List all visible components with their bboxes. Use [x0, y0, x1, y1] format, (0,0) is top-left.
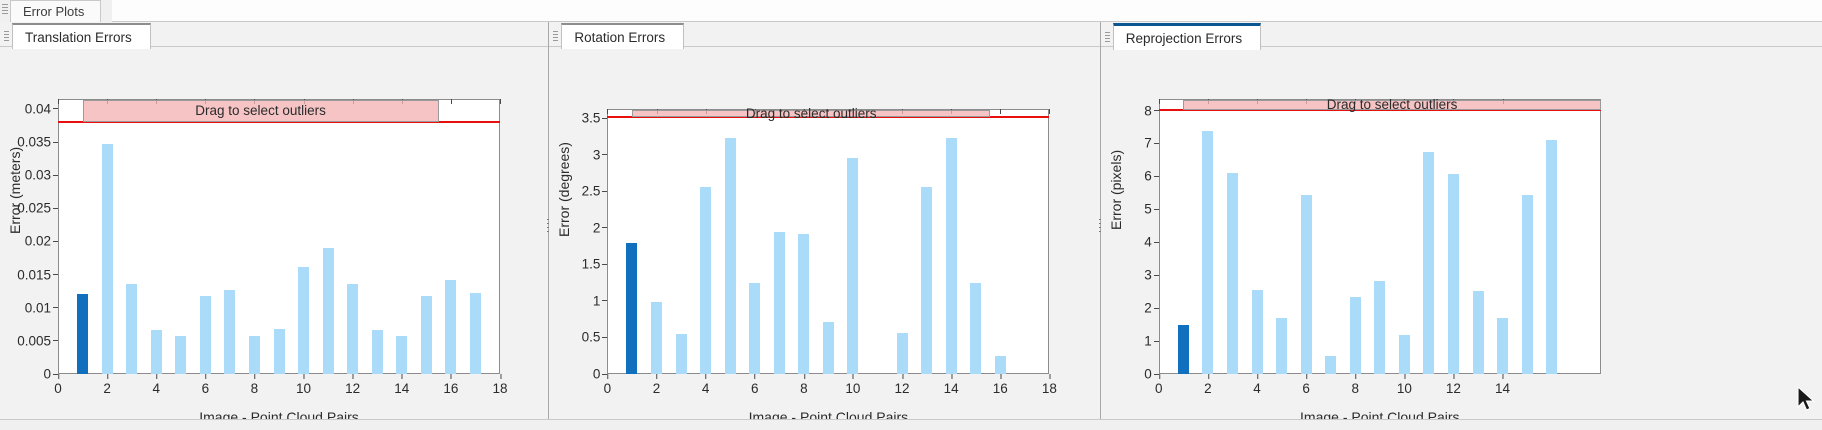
outlier-band-label: Drag to select outliers — [746, 106, 877, 121]
y-tick-label: 5 — [1144, 202, 1159, 217]
x-tick-label: 8 — [1351, 374, 1359, 396]
y-tick-label: 2.5 — [582, 184, 608, 199]
y-tick-label: 4 — [1144, 235, 1159, 250]
bar[interactable] — [847, 158, 858, 374]
x-tick-mark-top — [1159, 99, 1160, 104]
x-tick-label: 12 — [1446, 374, 1461, 396]
bar[interactable] — [749, 283, 760, 374]
y-axis-label: Error (pixels) — [1107, 65, 1125, 315]
bar[interactable] — [323, 248, 334, 374]
x-tick-mark-top — [1000, 109, 1001, 114]
bar[interactable] — [175, 336, 186, 374]
bar[interactable] — [1301, 195, 1312, 374]
bar[interactable] — [823, 322, 834, 374]
x-tick-label: 4 — [152, 374, 160, 396]
y-tick-label: 3 — [1144, 268, 1159, 283]
x-tick-label: 16 — [443, 374, 458, 396]
panel-drag-grip-icon[interactable] — [4, 31, 9, 42]
chart-translation-errors: Error (meters) 00.0050.010.0150.020.0250… — [0, 47, 548, 430]
x-tick-mark-top — [58, 99, 59, 104]
outlier-selection-band[interactable]: Drag to select outliers — [632, 110, 991, 117]
tab-label: Translation Errors — [25, 30, 132, 45]
bar[interactable] — [421, 296, 432, 374]
bar[interactable] — [897, 333, 908, 374]
x-tick-mark-top — [1049, 109, 1050, 114]
plot-area[interactable]: 01234567802468101214Drag to select outli… — [1159, 99, 1601, 374]
bar[interactable] — [626, 243, 637, 374]
panel-container: Translation Errors Error (meters) 00.005… — [0, 22, 1822, 430]
y-tick-label: 2 — [593, 220, 608, 235]
bar[interactable] — [1374, 281, 1385, 374]
x-tick-label: 12 — [345, 374, 360, 396]
x-tick-mark-top — [451, 99, 452, 104]
plot-area[interactable]: 00.0050.010.0150.020.0250.030.0350.04024… — [58, 99, 500, 374]
y-tick-label: 0.025 — [17, 201, 58, 216]
bar[interactable] — [77, 294, 88, 374]
x-tick-label: 6 — [751, 374, 759, 396]
x-tick-label: 14 — [944, 374, 959, 396]
x-tick-label: 10 — [296, 374, 311, 396]
y-tick-label: 0.04 — [25, 101, 58, 116]
bar[interactable] — [700, 187, 711, 374]
bar[interactable] — [274, 329, 285, 374]
bar[interactable] — [298, 267, 309, 374]
x-tick-label: 2 — [1204, 374, 1212, 396]
bar[interactable] — [921, 187, 932, 374]
bar[interactable] — [151, 330, 162, 374]
bar[interactable] — [1178, 325, 1189, 374]
x-tick-label: 4 — [702, 374, 710, 396]
x-tick-label: 0 — [604, 374, 612, 396]
x-tick-mark-top — [500, 99, 501, 104]
bar[interactable] — [347, 284, 358, 374]
x-tick-mark-top — [607, 109, 608, 114]
chart-rotation-errors: Error (degrees) 00.511.522.533.502468101… — [549, 47, 1099, 430]
bar[interactable] — [1423, 152, 1434, 374]
bar[interactable] — [798, 234, 809, 374]
x-tick-label: 14 — [394, 374, 409, 396]
bar[interactable] — [1448, 174, 1459, 374]
x-tick-label: 0 — [1155, 374, 1163, 396]
outer-tab-bar: Error Plots — [0, 0, 1822, 23]
tab-label: Reprojection Errors — [1126, 31, 1242, 46]
y-tick-label: 1.5 — [582, 257, 608, 272]
y-tick-label: 6 — [1144, 169, 1159, 184]
bar[interactable] — [651, 302, 662, 374]
y-tick-label: 7 — [1144, 136, 1159, 151]
y-tick-label: 3 — [593, 147, 608, 162]
panel-reprojection-errors: Reprojection Errors Error (pixels) 01234… — [1101, 22, 1822, 430]
bar[interactable] — [200, 296, 211, 374]
x-tick-label: 8 — [800, 374, 808, 396]
x-tick-label: 2 — [653, 374, 661, 396]
tab-error-plots[interactable]: Error Plots — [10, 0, 101, 22]
x-tick-label: 0 — [54, 374, 62, 396]
bar[interactable] — [396, 336, 407, 374]
bar[interactable] — [249, 336, 260, 374]
error-plots-window: Error Plots Translation Errors Error (me… — [0, 0, 1822, 430]
plot-area[interactable]: 00.511.522.533.5024681012141618Drag to s… — [607, 109, 1049, 374]
x-tick-label: 10 — [1397, 374, 1412, 396]
bar[interactable] — [126, 284, 137, 374]
panel-rotation-errors: Rotation Errors Error (degrees) 00.511.5… — [549, 22, 1099, 430]
outlier-band-label: Drag to select outliers — [1327, 97, 1458, 112]
bar[interactable] — [1350, 297, 1361, 374]
x-tick-label: 4 — [1253, 374, 1261, 396]
y-tick-label: 0.02 — [25, 234, 58, 249]
bar[interactable] — [1276, 318, 1287, 374]
bar[interactable] — [1473, 291, 1484, 374]
panel-drag-grip-icon[interactable] — [1105, 32, 1110, 43]
y-axis-label: Error (degrees) — [555, 65, 573, 315]
mouse-cursor-icon — [1796, 386, 1818, 412]
bar[interactable] — [1497, 318, 1508, 374]
outer-tab-filler — [112, 0, 1822, 22]
x-tick-label: 18 — [492, 374, 507, 396]
bar[interactable] — [725, 138, 736, 374]
y-tick-label: 0.005 — [17, 333, 58, 348]
bar[interactable] — [995, 356, 1006, 374]
tab-translation-errors[interactable]: Translation Errors — [12, 23, 151, 49]
drag-grip-icon[interactable] — [2, 4, 8, 16]
outer-tab-label: Error Plots — [23, 4, 84, 19]
bar[interactable] — [1252, 290, 1263, 374]
x-tick-label: 12 — [895, 374, 910, 396]
y-tick-label: 8 — [1144, 103, 1159, 118]
bar[interactable] — [1522, 195, 1533, 374]
bar[interactable] — [224, 290, 235, 374]
x-tick-label: 14 — [1495, 374, 1510, 396]
bar[interactable] — [774, 232, 785, 374]
bar[interactable] — [102, 144, 113, 374]
outlier-selection-band[interactable]: Drag to select outliers — [1183, 100, 1600, 110]
chart-reprojection-errors: Error (pixels) 01234567802468101214Drag … — [1101, 47, 1822, 430]
bar[interactable] — [1325, 356, 1336, 374]
bar[interactable] — [1227, 173, 1238, 374]
y-tick-label: 0.5 — [582, 330, 608, 345]
y-tick-label: 0.015 — [17, 267, 58, 282]
x-tick-label: 6 — [1302, 374, 1310, 396]
panel-2-tab-bar: Rotation Errors — [549, 22, 1099, 47]
x-tick-label: 16 — [993, 374, 1008, 396]
bar[interactable] — [946, 138, 957, 374]
bar[interactable] — [470, 293, 481, 374]
panel-1-tab-bar: Translation Errors — [0, 22, 548, 47]
y-tick-label: 0.01 — [25, 300, 58, 315]
bar[interactable] — [1399, 335, 1410, 374]
tab-rotation-errors[interactable]: Rotation Errors — [561, 23, 684, 49]
bar[interactable] — [970, 283, 981, 374]
bar[interactable] — [445, 280, 456, 374]
y-tick-label: 1 — [593, 293, 608, 308]
y-tick-label: 3.5 — [582, 111, 608, 126]
panel-drag-grip-icon[interactable] — [553, 31, 558, 42]
bar[interactable] — [372, 330, 383, 374]
bar[interactable] — [676, 334, 687, 374]
x-tick-label: 8 — [251, 374, 259, 396]
x-tick-label: 2 — [103, 374, 111, 396]
bar[interactable] — [1546, 140, 1557, 374]
outlier-band-label: Drag to select outliers — [195, 103, 326, 118]
x-tick-label: 18 — [1042, 374, 1057, 396]
y-tick-label: 2 — [1144, 301, 1159, 316]
x-tick-label: 6 — [202, 374, 210, 396]
x-tick-label: 10 — [845, 374, 860, 396]
panel-3-tab-bar: Reprojection Errors — [1101, 22, 1822, 47]
y-tick-label: 0.035 — [17, 135, 58, 150]
tab-reprojection-errors[interactable]: Reprojection Errors — [1113, 23, 1261, 50]
status-bar — [0, 419, 1822, 430]
outlier-selection-band[interactable]: Drag to select outliers — [83, 100, 439, 122]
y-tick-label: 0.03 — [25, 168, 58, 183]
tab-label: Rotation Errors — [574, 30, 665, 45]
bar[interactable] — [1202, 131, 1213, 374]
y-tick-label: 1 — [1144, 334, 1159, 349]
panel-translation-errors: Translation Errors Error (meters) 00.005… — [0, 22, 548, 430]
